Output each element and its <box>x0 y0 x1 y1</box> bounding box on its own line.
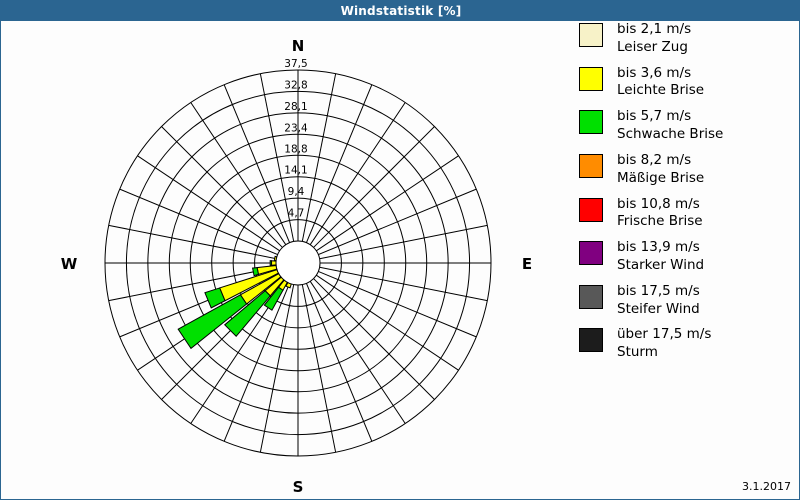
legend-beaufort-name: Frische Brise <box>617 213 703 231</box>
legend-speed-range: bis 10,8 m/s <box>617 196 703 214</box>
legend-speed-range: über 17,5 m/s <box>617 326 711 344</box>
grid-spoke <box>318 271 476 336</box>
legend-label: bis 17,5 m/sSteifer Wind <box>617 283 700 319</box>
legend-color-swatch <box>579 154 603 178</box>
legend-speed-range: bis 5,7 m/s <box>617 108 723 126</box>
legend-beaufort-name: Steifer Wind <box>617 301 700 319</box>
legend: bis 2,1 m/sLeiser Zugbis 3,6 m/sLeichte … <box>579 21 789 370</box>
radial-tick-label: 23,4 <box>284 122 308 134</box>
wind-rose-segment <box>253 268 259 276</box>
grid-spoke <box>162 127 283 248</box>
grid-spoke <box>314 127 435 248</box>
radial-tick-label: 14,1 <box>284 165 307 177</box>
radial-tick-label: 28,1 <box>284 101 307 113</box>
compass-label-south: S <box>293 478 304 496</box>
grid-spoke <box>306 85 371 243</box>
grid-spoke <box>318 189 476 254</box>
grid-spoke <box>314 279 435 400</box>
legend-beaufort-name: Sturm <box>617 344 711 362</box>
legend-color-swatch <box>579 285 603 309</box>
legend-beaufort-name: Leiser Zug <box>617 39 691 57</box>
legend-color-swatch <box>579 198 603 222</box>
legend-beaufort-name: Mäßige Brise <box>617 170 704 188</box>
wind-rose-segment <box>272 261 277 265</box>
grid-spoke <box>302 74 335 242</box>
legend-speed-range: bis 2,1 m/s <box>617 21 691 39</box>
legend-speed-range: bis 17,5 m/s <box>617 283 700 301</box>
grid-spoke <box>109 225 277 258</box>
legend-label: bis 8,2 m/sMäßige Brise <box>617 152 704 188</box>
legend-beaufort-name: Schwache Brise <box>617 126 723 144</box>
radial-tick-label: 9,4 <box>288 186 305 198</box>
legend-item: bis 8,2 m/sMäßige Brise <box>579 152 789 188</box>
legend-speed-range: bis 3,6 m/s <box>617 65 704 83</box>
legend-color-swatch <box>579 67 603 91</box>
legend-speed-range: bis 8,2 m/s <box>617 152 704 170</box>
legend-label: bis 5,7 m/sSchwache Brise <box>617 108 723 144</box>
radial-tick-label: 32,8 <box>284 79 307 91</box>
compass-label-north: N <box>292 37 305 55</box>
legend-speed-range: bis 13,9 m/s <box>617 239 704 257</box>
wind-rose-segment <box>270 261 271 266</box>
window-title: Windstatistik [%] <box>341 4 462 18</box>
radial-tick-labels: 4,79,414,118,823,428,132,837,5 <box>284 58 308 220</box>
legend-color-swatch <box>579 110 603 134</box>
legend-item: bis 2,1 m/sLeiser Zug <box>579 21 789 57</box>
grid-spoke <box>260 285 293 453</box>
legend-item: bis 17,5 m/sSteifer Wind <box>579 283 789 319</box>
legend-item: bis 5,7 m/sSchwache Brise <box>579 108 789 144</box>
legend-label: bis 13,9 m/sStarker Wind <box>617 239 704 275</box>
grid-spoke <box>302 285 335 453</box>
legend-color-swatch <box>579 23 603 47</box>
wind-rose-petals <box>178 256 291 348</box>
grid-spoke <box>320 267 488 300</box>
legend-color-swatch <box>579 328 603 352</box>
grid-spoke <box>120 189 278 254</box>
compass-label-west: W <box>61 255 78 273</box>
legend-beaufort-name: Starker Wind <box>617 257 704 275</box>
legend-color-swatch <box>579 241 603 265</box>
windstatistik-window: Windstatistik [%] 4,79,414,118,823,428,1… <box>0 0 800 500</box>
compass-label-east: E <box>522 255 532 273</box>
radial-tick-label: 18,8 <box>284 143 307 155</box>
window-titlebar: Windstatistik [%] <box>1 1 800 21</box>
radial-tick-label: 37,5 <box>284 58 307 70</box>
legend-beaufort-name: Leichte Brise <box>617 82 704 100</box>
legend-label: bis 3,6 m/sLeichte Brise <box>617 65 704 101</box>
legend-label: bis 2,1 m/sLeiser Zug <box>617 21 691 57</box>
legend-label: bis 10,8 m/sFrische Brise <box>617 196 703 232</box>
legend-item: bis 10,8 m/sFrische Brise <box>579 196 789 232</box>
polar-center-hub <box>276 241 320 285</box>
legend-item: bis 13,9 m/sStarker Wind <box>579 239 789 275</box>
grid-spoke <box>224 85 289 243</box>
center-hub <box>276 241 320 285</box>
grid-spoke <box>306 283 371 441</box>
date-stamp: 3.1.2017 <box>742 480 791 493</box>
legend-label: über 17,5 m/sSturm <box>617 326 711 362</box>
legend-item: über 17,5 m/sSturm <box>579 326 789 362</box>
grid-spoke <box>320 225 488 258</box>
legend-item: bis 3,6 m/sLeichte Brise <box>579 65 789 101</box>
radial-tick-label: 4,7 <box>288 208 305 220</box>
